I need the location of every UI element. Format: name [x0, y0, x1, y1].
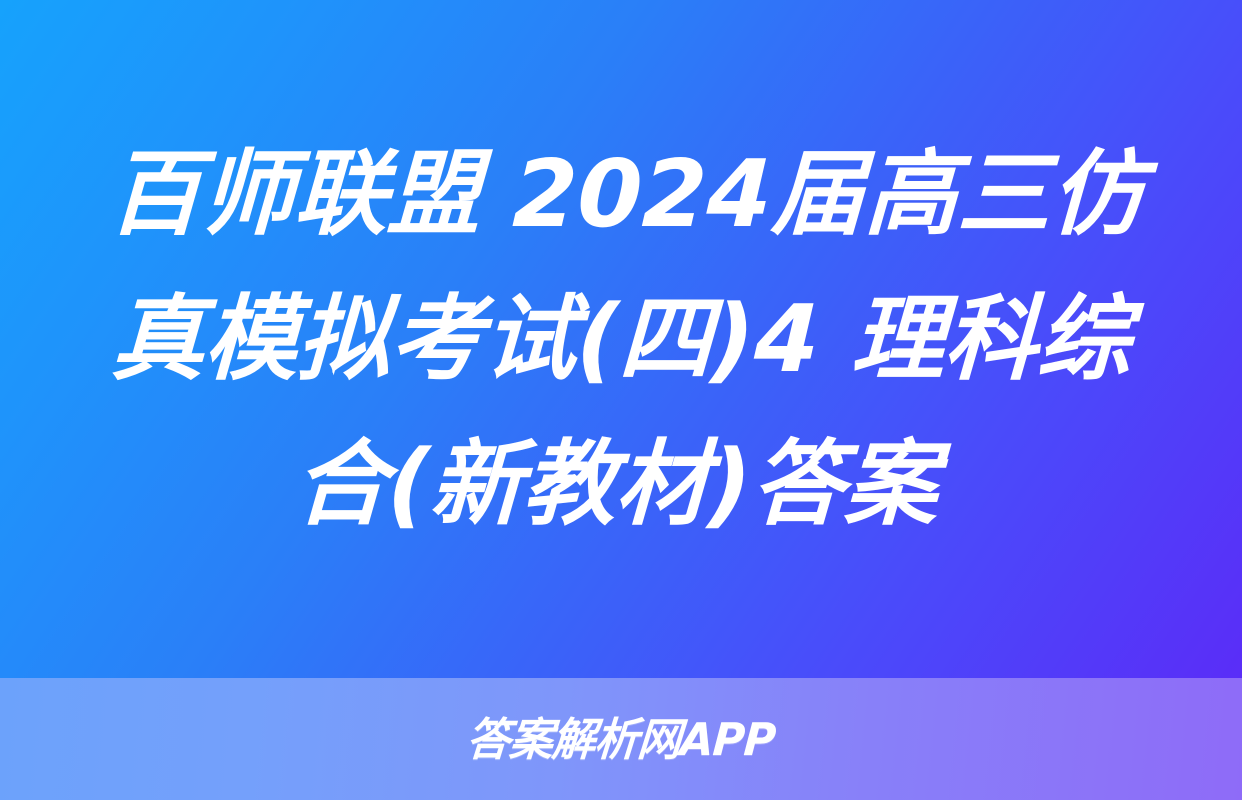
watermark-label: 答案解析网APP	[465, 717, 776, 762]
title-block: 百师联盟 2024届高三仿真模拟考试(四)4 理科综合(新教材)答案	[0, 0, 1242, 678]
page-title: 百师联盟 2024届高三仿真模拟考试(四)4 理科综合(新教材)答案	[66, 122, 1175, 557]
watermark-band: 答案解析网APP	[0, 678, 1242, 800]
poster-canvas: 百师联盟 2024届高三仿真模拟考试(四)4 理科综合(新教材)答案 答案解析网…	[0, 0, 1242, 800]
